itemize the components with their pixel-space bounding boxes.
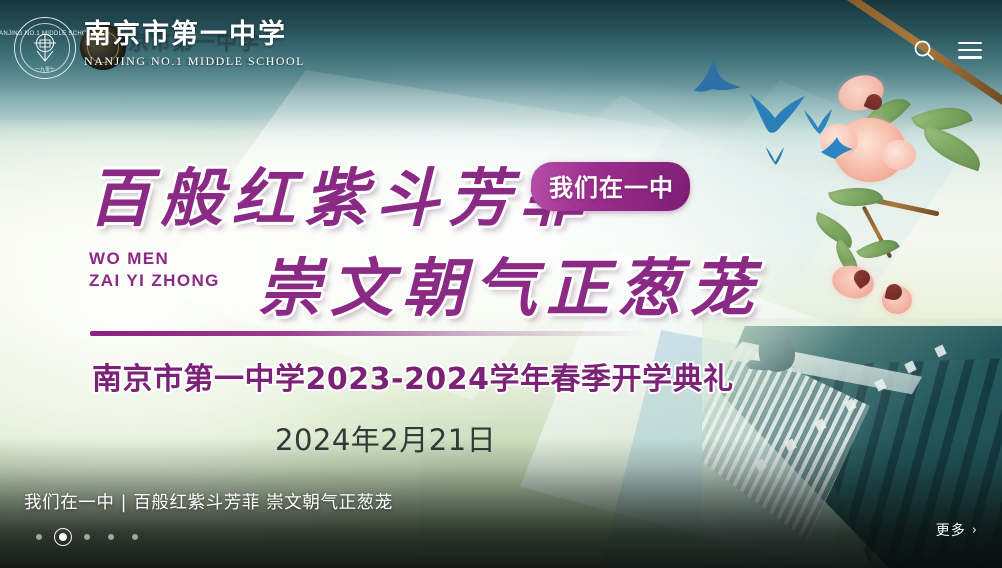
bird-icon: [802, 106, 834, 136]
more-link[interactable]: 更多 ›: [936, 520, 978, 540]
seal-inner-mark: [28, 31, 62, 65]
wordmark-cn: 南京市第一中学: [84, 12, 305, 51]
site-header: NANJING NO.1 MIDDLE SCHOOL 一九零七 南京市第一中学 …: [0, 0, 1002, 96]
calligraphy-line-1: 百般红紫斗芳菲: [88, 148, 592, 239]
event-title: 南京市第一中学2023-2024学年春季开学典礼: [92, 354, 733, 398]
pinyin-line-2: ZAI YI ZHONG: [89, 270, 220, 292]
school-wordmark[interactable]: 南京市第一中学 NANJING NO.1 MIDDLE SCHOOL 南京市第一…: [84, 10, 314, 86]
slide-caption[interactable]: 我们在一中 | 百般红紫斗芳菲 崇文朝气正葱茏: [24, 489, 393, 514]
wordmark-en: NANJING NO.1 MIDDLE SCHOOL: [84, 54, 305, 69]
pagination-dot[interactable]: [132, 534, 138, 540]
pagination-dot-active[interactable]: [54, 528, 72, 546]
pagination-dot[interactable]: [36, 534, 42, 540]
bird-icon: [764, 144, 786, 166]
calligraphy-line-2: 崇文朝气正葱茏: [258, 238, 762, 329]
hamburger-menu-icon[interactable]: [958, 42, 982, 59]
blossom-icon: [829, 261, 877, 302]
seal-bottom-text: 一九零七: [35, 66, 55, 73]
wordmark-front-layer: 南京市第一中学 NANJING NO.1 MIDDLE SCHOOL: [84, 12, 305, 69]
leaf-icon: [917, 125, 987, 171]
bird-icon: [820, 136, 854, 162]
logo-area[interactable]: NANJING NO.1 MIDDLE SCHOOL 一九零七 南京市第一中学 …: [14, 10, 314, 86]
pagination-dot[interactable]: [84, 534, 90, 540]
slogan-badge: 我们在一中: [531, 162, 690, 211]
search-icon[interactable]: [912, 38, 936, 62]
slider-hero-slide: NANJING NO.1 MIDDLE SCHOOL 一九零七 南京市第一中学 …: [0, 0, 1002, 568]
pinyin-line-1: WO MEN: [89, 248, 220, 270]
more-label: 更多: [936, 520, 966, 540]
purple-divider: [90, 331, 643, 336]
school-seal-icon: NANJING NO.1 MIDDLE SCHOOL 一九零七: [14, 17, 76, 79]
header-tools: [912, 38, 982, 62]
slider-pagination: [36, 528, 138, 546]
pagination-dot[interactable]: [108, 534, 114, 540]
leaf-icon: [828, 180, 884, 214]
chevron-right-icon: ›: [972, 523, 978, 538]
pinyin-block: WO MEN ZAI YI ZHONG: [89, 248, 220, 293]
